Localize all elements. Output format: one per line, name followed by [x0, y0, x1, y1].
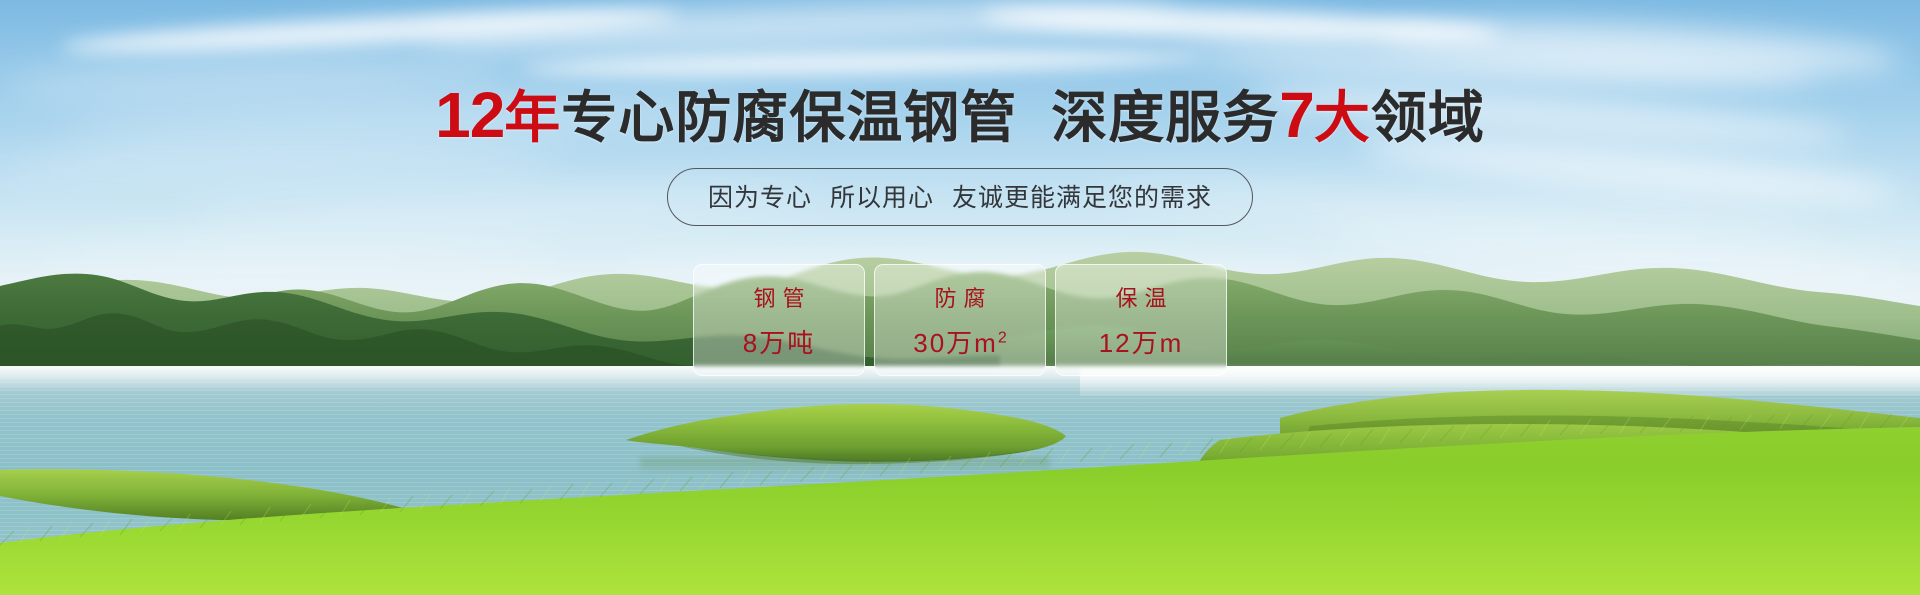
stat-card-value-text: 30万m: [913, 328, 998, 358]
banner-content: 12年专心防腐保温钢管深度服务7大领域 因为专心所以用心友诚更能满足您的需求 钢…: [0, 0, 1920, 595]
stat-card-value: 12万m: [1099, 323, 1184, 360]
stat-card-group: 钢管 8万吨 防腐 30万m2 保温 12万m: [693, 264, 1227, 376]
stat-card-value-superscript: 2: [998, 329, 1007, 346]
subtitle-part-2: 所以用心: [830, 184, 934, 212]
headline-years-unit: 年: [504, 86, 561, 149]
stat-card-label: 钢管: [746, 281, 811, 313]
stat-card-value: 30万m2: [913, 323, 1007, 360]
headline-fields-suffix: 领域: [1371, 86, 1485, 149]
stat-card-insulation[interactable]: 保温 12万m: [1055, 264, 1227, 376]
headline-fields-number: 7: [1279, 79, 1314, 151]
headline-years-number: 12: [435, 79, 504, 151]
headline-service-text: 深度服务: [1051, 86, 1279, 149]
banner-headline: 12年专心防腐保温钢管深度服务7大领域: [0, 82, 1920, 149]
stat-card-label: 防腐: [927, 281, 992, 313]
stat-card-anticorrosion[interactable]: 防腐 30万m2: [874, 264, 1046, 376]
stat-card-steel-pipe[interactable]: 钢管 8万吨: [693, 264, 865, 376]
headline-main-text: 专心防腐保温钢管: [561, 86, 1017, 149]
stat-card-label: 保温: [1108, 281, 1173, 313]
headline-fields-unit-red: 大: [1314, 86, 1371, 149]
stat-card-value: 8万吨: [743, 323, 815, 360]
banner-subtitle-pill: 因为专心所以用心友诚更能满足您的需求: [667, 168, 1253, 226]
hero-banner: 12年专心防腐保温钢管深度服务7大领域 因为专心所以用心友诚更能满足您的需求 钢…: [0, 0, 1920, 595]
subtitle-part-3: 友诚更能满足您的需求: [952, 184, 1212, 212]
subtitle-part-1: 因为专心: [708, 184, 812, 212]
